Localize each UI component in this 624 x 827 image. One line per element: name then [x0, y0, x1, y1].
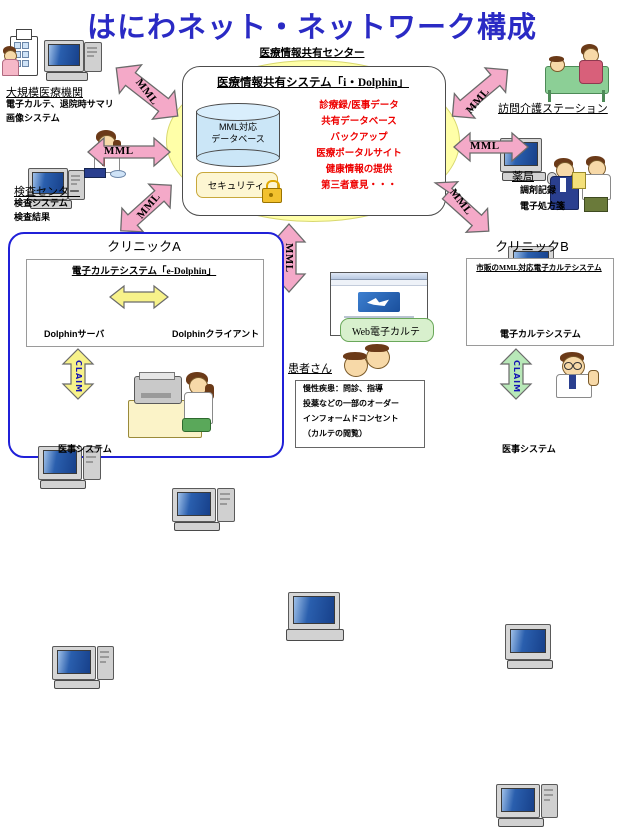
pharmacy-name: 薬局	[512, 168, 534, 184]
clinic-b-emr-label: 電子カルテシステム	[500, 328, 581, 340]
doctor-figure-icon	[552, 352, 600, 396]
clinic-b-emr-computer-icon	[505, 624, 571, 668]
large-hospital-detail: 電子カルテ、退院時サマリ	[6, 98, 114, 110]
hub-feature-item: 健康情報の提供	[286, 162, 432, 178]
patient-note-item: （カルテの閲覧）	[296, 426, 424, 441]
pharmacy-detail: 電子処方箋	[520, 200, 565, 212]
patient-label: 患者さん	[288, 360, 332, 376]
patient-face-icon	[344, 352, 368, 376]
clinic-b-claim-label: CLAIM	[512, 360, 521, 393]
receptionist-figure-icon	[182, 372, 214, 430]
caregiver-figure-icon	[577, 44, 605, 84]
web-karte-label: Web電子カルテ	[340, 323, 432, 338]
clinic-b-title: クリニックB	[452, 236, 612, 255]
clinic-a-billing-computer-icon	[52, 646, 118, 688]
printer-icon	[134, 376, 182, 404]
patient-in-bed-icon	[548, 56, 572, 72]
clinic-b-emr-title: 市販のMML対応電子カルテシステム	[466, 262, 612, 273]
hub-feature-item: 診療録/医事データ	[286, 98, 432, 114]
clinic-a-server-label: Dolphinサーバ	[44, 328, 104, 340]
pharmacy-detail: 調剤記録	[520, 184, 556, 196]
browser-toolbar	[331, 280, 427, 286]
lab-bench-icon	[84, 168, 128, 178]
prescription-bag-icon	[572, 172, 586, 189]
server-client-arrow	[108, 284, 170, 310]
hub-feature-item: 共有データベース	[286, 114, 432, 130]
hub-system-title: 医療情報共有システム「i・Dolphin」	[182, 74, 444, 90]
hospital-computer-icon	[44, 40, 106, 80]
padlock-icon	[262, 180, 280, 201]
hub-feature-item: 第三者意見・・・	[286, 178, 432, 194]
database-label-line1: MML対応	[196, 121, 280, 133]
clinic-b-billing-label: 医事システム	[502, 443, 556, 455]
hub-feature-list: 診療録/医事データ 共有データベース バックアップ 医療ポータルサイト 健康情報…	[286, 98, 432, 194]
database-label-line2: データベース	[196, 133, 280, 145]
test-center-detail: 検査システム	[14, 197, 68, 209]
hub-feature-item: 医療ポータルサイト	[286, 146, 432, 162]
clinic-a-billing-label: 医事システム	[58, 443, 112, 455]
nurse-figure-icon	[0, 46, 20, 78]
mml-arrow-label: MML	[470, 140, 500, 152]
dolphin-client-icon	[172, 488, 238, 530]
browser-title-bar	[331, 273, 427, 280]
test-center-detail: 検査結果	[14, 211, 50, 223]
patient-face-icon	[366, 344, 390, 368]
patient-note-item: 投薬などの一部のオーダー	[296, 396, 424, 411]
database-cylinder-icon: MML対応 データベース	[196, 103, 280, 165]
mml-arrow-label: MML	[283, 243, 295, 273]
large-hospital-detail: 画像システム	[6, 112, 60, 124]
patient-note-item: インフォームドコンセント	[296, 411, 424, 426]
patient-notes-box: 慢性疾患：問診、指導 投薬などの一部のオーダー インフォームドコンセント （カル…	[295, 380, 425, 448]
clinic-a-title: クリニックA	[8, 236, 280, 255]
clinic-a-emr-title: 電子カルテシステム「e-Dolphin」	[26, 263, 262, 277]
dolphin-logo-icon	[358, 292, 400, 312]
mml-arrow-label: MML	[104, 145, 134, 157]
patient-note-item: 慢性疾患：問診、指導	[296, 381, 424, 396]
patient-laptop-icon	[288, 592, 354, 644]
clinic-a-claim-label: CLAIM	[74, 360, 83, 393]
hub-feature-item: バックアップ	[286, 130, 432, 146]
clinic-b-billing-computer-icon	[496, 784, 562, 826]
clinic-a-client-label: Dolphinクライアント	[172, 328, 259, 340]
